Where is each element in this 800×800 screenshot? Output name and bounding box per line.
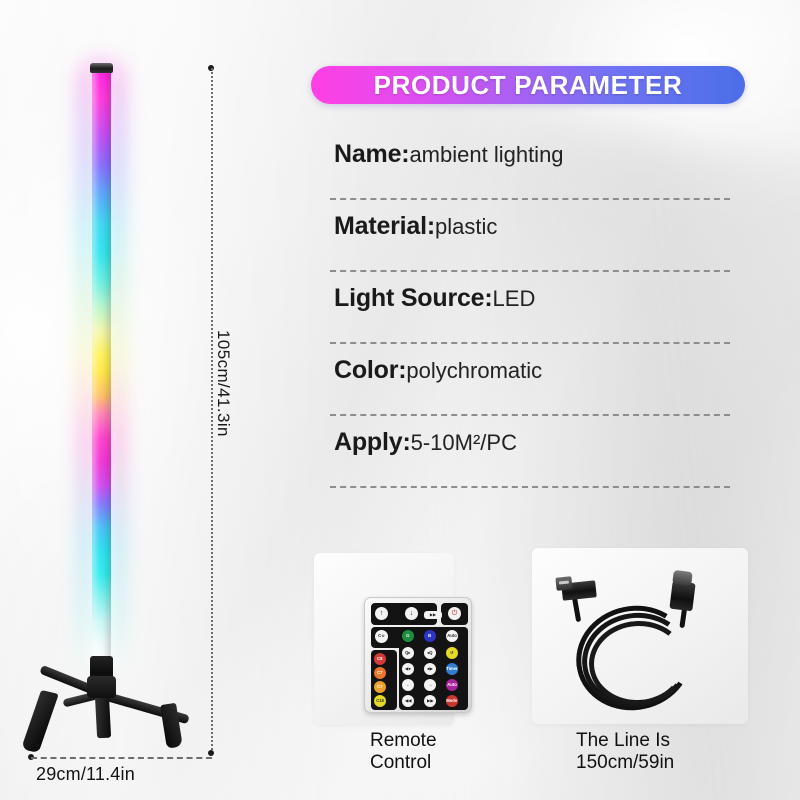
spec-value-apply: 5-10M²/PC [411,430,517,455]
usb-a-metal-tip [555,576,572,591]
lamp-top-cap [90,63,113,73]
spec-key-color: Color [334,356,398,384]
dimension-marker-bottom [208,750,214,756]
remote-grid-button-7[interactable]: ●▶ [424,663,436,675]
remote-color-button-c7b[interactable]: C7 [374,681,386,693]
product-parameter-infographic: 105cm/41.3in 29cm/11.4in PRODUCT PARAMET… [0,0,800,800]
remote-grid-label-2: Auto [447,634,457,638]
remote-grid-button-13[interactable]: ▶▶ [424,695,436,707]
lamp-product-photo [0,0,300,800]
spec-value-name: ambient lighting [409,142,563,167]
tripod-leg-right-lower [160,703,183,749]
remote-btn-label-1: ↓ [410,610,414,617]
spec-row-name: Name:ambient lighting [330,128,730,200]
spec-text-name: Name:ambient lighting [334,140,564,169]
remote-brightness-down-button[interactable]: ↓ [405,607,418,620]
remote-color-label-1: C7 [377,671,382,675]
remote-grid-label-8: Timer [446,667,457,671]
remote-grid-label-7: ●▶ [427,667,433,671]
remote-speed-button[interactable]: ▶▶ [424,611,442,619]
remote-grid-button-9[interactable]: ← [402,679,414,691]
width-dimension-line [31,757,212,759]
remote-grid-label-0: G [406,634,409,638]
spec-key-light-source: Light Source [334,284,484,312]
remote-color-label-3: C18 [376,699,384,703]
spec-colon-light-source: : [484,284,492,312]
spec-text-apply: Apply:5-10M²/PC [334,428,517,457]
remote-btn-label-3: ⏻ [452,610,458,617]
remote-color-label-0: C8 [377,657,382,661]
remote-grid-button-1[interactable]: B [424,630,436,642]
specification-list: Name:ambient lighting Material:plastic L… [330,128,730,488]
remote-grid-button-4[interactable]: ◂Q [424,647,436,659]
usb-cable-caption: The Line Is 150cm/59in [576,730,674,775]
remote-grid-button-0[interactable]: G [402,630,414,642]
remote-grid-label-11: Auto [447,683,457,687]
remote-color-button-c18[interactable]: C18 [374,695,386,707]
remote-control-caption: Remote Control [370,730,437,775]
cable-lead-left [572,596,581,622]
spec-key-name: Name [334,140,401,168]
remote-grid-button-6[interactable]: ◀● [402,663,414,675]
spec-colon-apply: : [402,428,410,456]
remote-grid-label-3: Q▸ [405,651,410,655]
remote-grid-label-9: ← [406,683,410,687]
remote-grid-label-6: ◀● [405,667,411,671]
remote-brightness-up-button[interactable]: ↑ [375,607,388,620]
remote-grid-button-3[interactable]: Q▸ [402,647,414,659]
spec-separator-5 [330,486,730,488]
spec-colon-material: : [427,212,435,240]
usb-c-connector-icon [669,581,695,612]
remote-grid-label-12: ◀◀ [405,699,411,703]
remote-grid-button-5[interactable]: ↺ [446,647,458,659]
tripod-leg-center [95,694,111,739]
height-dimension-label: 105cm/41.3in [213,330,233,437]
remote-control-icon: ↑ ↓ ▶▶ ⏻ C☆ C8 C7 C7 C18 G [364,597,472,713]
spec-key-material: Material [334,212,427,240]
spec-value-color: polychromatic [406,358,542,383]
spec-row-color: Color:polychromatic [330,344,730,416]
remote-grid-button-10[interactable]: → [424,679,436,691]
remote-color-button-c7a[interactable]: C7 [374,667,386,679]
rgb-light-tube [92,68,111,664]
remote-grid-label-14: Mode [447,699,458,703]
tripod-leg-left-lower [21,690,59,753]
remote-grid-button-12[interactable]: ◀◀ [402,695,414,707]
remote-grid-button-14[interactable]: Mode [446,695,458,707]
remote-grid-label-5: ↺ [450,651,454,655]
remote-color-label-2: C7 [377,685,382,689]
remote-grid-button-8[interactable]: Timer [446,663,458,675]
remote-cstar-label: C☆ [378,634,385,638]
remote-grid-label-4: ◂Q [427,651,432,655]
remote-grid-label-10: → [428,683,432,687]
spec-text-color: Color:polychromatic [334,356,542,385]
remote-color-button-c8[interactable]: C8 [374,653,386,665]
spec-text-material: Material:plastic [334,212,497,241]
spec-row-light-source: Light Source:LED [330,272,730,344]
spec-row-material: Material:plastic [330,200,730,272]
remote-cstar-button[interactable]: C☆ [375,630,388,643]
spec-value-light-source: LED [493,286,536,311]
banner-title: PRODUCT PARAMETER [374,70,683,101]
remote-power-button[interactable]: ⏻ [448,607,461,620]
spec-key-apply: Apply [334,428,402,456]
spec-row-apply: Apply:5-10M²/PC [330,416,730,488]
usb-cable-icon [548,566,734,710]
remote-btn-label-0: ↑ [380,610,384,617]
remote-grid-button-11[interactable]: Auto [446,679,458,691]
width-dimension-label: 29cm/11.4in [36,764,135,785]
spec-text-light-source: Light Source:LED [334,284,535,313]
usb-c-metal-tip [672,570,693,586]
product-parameter-banner: PRODUCT PARAMETER [311,66,745,104]
remote-grid-label-1: B [428,634,431,638]
tripod-hub [87,676,116,698]
remote-grid-button-2[interactable]: Auto [446,630,458,642]
remote-btn-label-2: ▶▶ [430,613,436,617]
remote-grid-label-13: ▶▶ [427,699,433,703]
spec-value-material: plastic [435,214,497,239]
